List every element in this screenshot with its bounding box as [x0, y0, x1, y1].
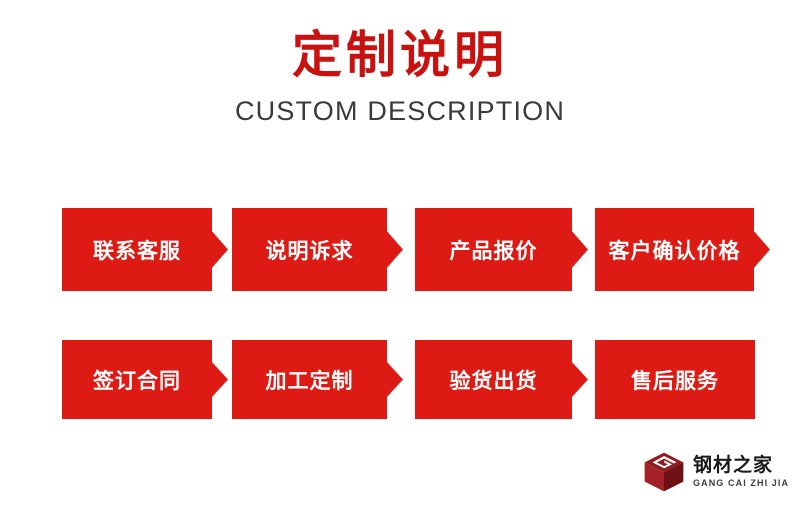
- flow-step-contact-service[interactable]: 联系客服: [62, 208, 228, 291]
- flow-step-label: 说明诉求: [266, 235, 370, 265]
- brand-logo-text: 钢材之家 GANG CAI ZHI JIA: [693, 455, 789, 489]
- brand-logo[interactable]: 钢材之家 GANG CAI ZHI JIA: [642, 448, 792, 496]
- flow-step-label: 联系客服: [93, 235, 197, 265]
- cube-box-g-icon: [642, 450, 686, 494]
- flow-step-label: 加工定制: [266, 365, 370, 395]
- page-title: 定制说明: [0, 0, 800, 84]
- flow-step-label: 产品报价: [450, 235, 554, 265]
- flow-step-label: 售后服务: [631, 365, 719, 395]
- page-header: 定制说明 CUSTOM DESCRIPTION: [0, 0, 800, 126]
- flow-step-label: 验货出货: [450, 365, 554, 395]
- process-flow-row-2: 签订合同 加工定制 验货出货 售后服务: [0, 340, 800, 419]
- flow-step-label: 签订合同: [93, 365, 197, 395]
- flow-step-customer-confirms-price[interactable]: 客户确认价格: [595, 208, 770, 291]
- flow-step-sign-contract[interactable]: 签订合同: [62, 340, 228, 419]
- custom-description-infographic: 定制说明 CUSTOM DESCRIPTION 联系客服 说明诉求 产品报价 客…: [0, 0, 800, 506]
- flow-step-after-sales-service[interactable]: 售后服务: [595, 340, 755, 419]
- brand-name-cn: 钢材之家: [693, 455, 789, 476]
- flow-step-label: 客户确认价格: [609, 235, 757, 265]
- page-subtitle: CUSTOM DESCRIPTION: [0, 84, 800, 126]
- flow-step-product-quotation[interactable]: 产品报价: [415, 208, 588, 291]
- flow-step-inspection-shipment[interactable]: 验货出货: [415, 340, 588, 419]
- flow-step-processing-customization[interactable]: 加工定制: [232, 340, 403, 419]
- brand-name-en: GANG CAI ZHI JIA: [693, 478, 789, 489]
- flow-step-state-requirements[interactable]: 说明诉求: [232, 208, 403, 291]
- process-flow-row-1: 联系客服 说明诉求 产品报价 客户确认价格: [0, 208, 800, 291]
